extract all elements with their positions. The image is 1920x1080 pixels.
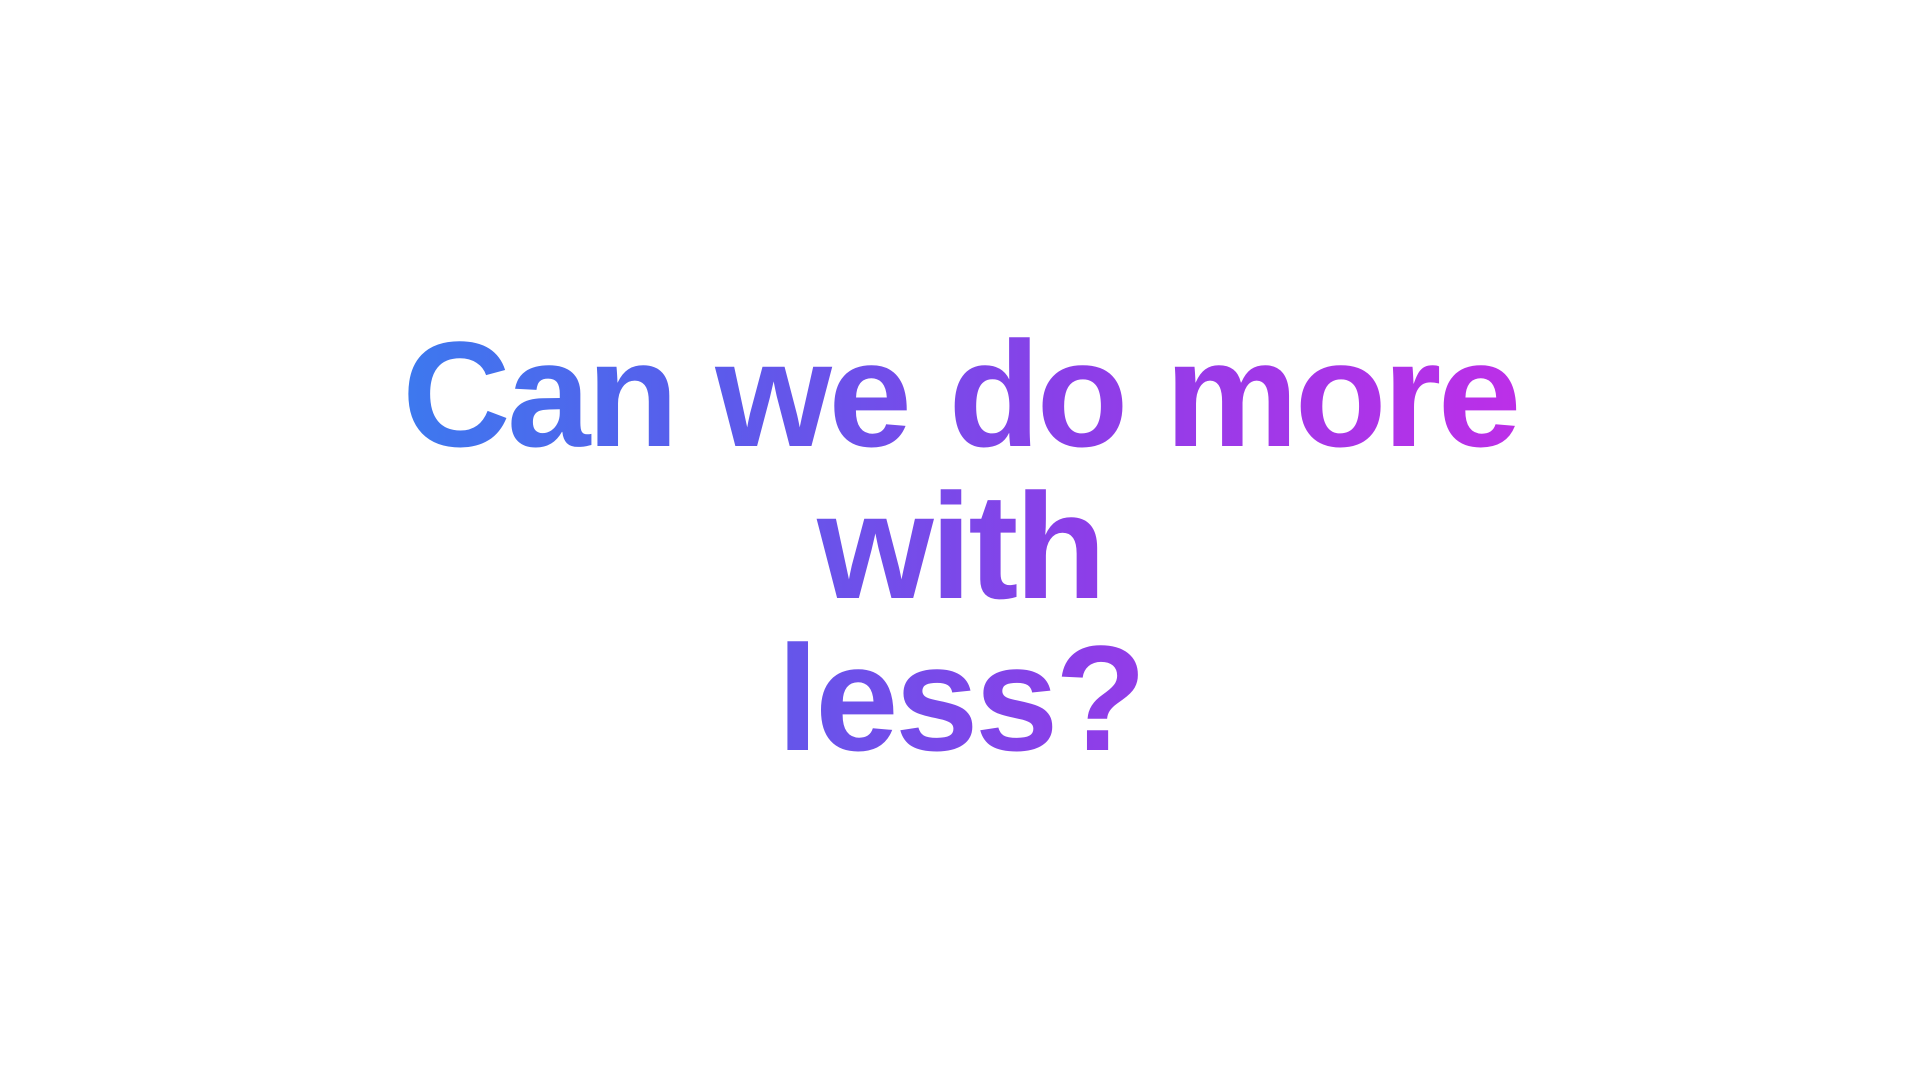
headline-block: Can we do more with less? [0,318,1920,774]
headline-line-1: Can we do more with [260,318,1660,622]
page-title: Can we do more with less? [260,318,1660,774]
headline-line-2: less? [260,622,1660,774]
slide-canvas: Can we do more with less? [0,0,1920,1080]
